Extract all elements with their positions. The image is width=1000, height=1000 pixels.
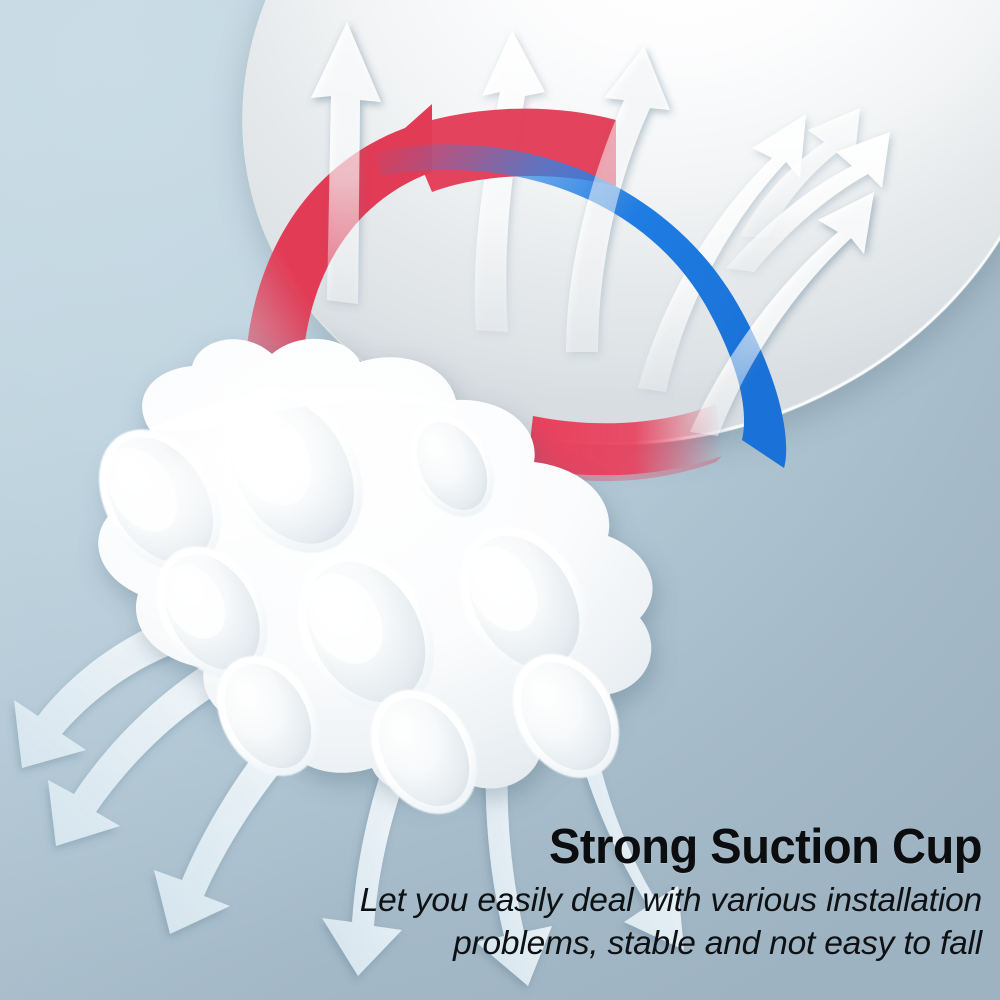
page-title: Strong Suction Cup — [39, 822, 982, 873]
subtitle: Let you easily deal with various install… — [0, 879, 982, 966]
marketing-copy: Strong Suction Cup Let you easily deal w… — [0, 822, 982, 966]
product-feature-image: Strong Suction Cup Let you easily deal w… — [0, 0, 1000, 1000]
subtitle-line-1: Let you easily deal with various install… — [0, 879, 982, 923]
subtitle-line-2: problems, stable and not easy to fall — [0, 922, 982, 966]
